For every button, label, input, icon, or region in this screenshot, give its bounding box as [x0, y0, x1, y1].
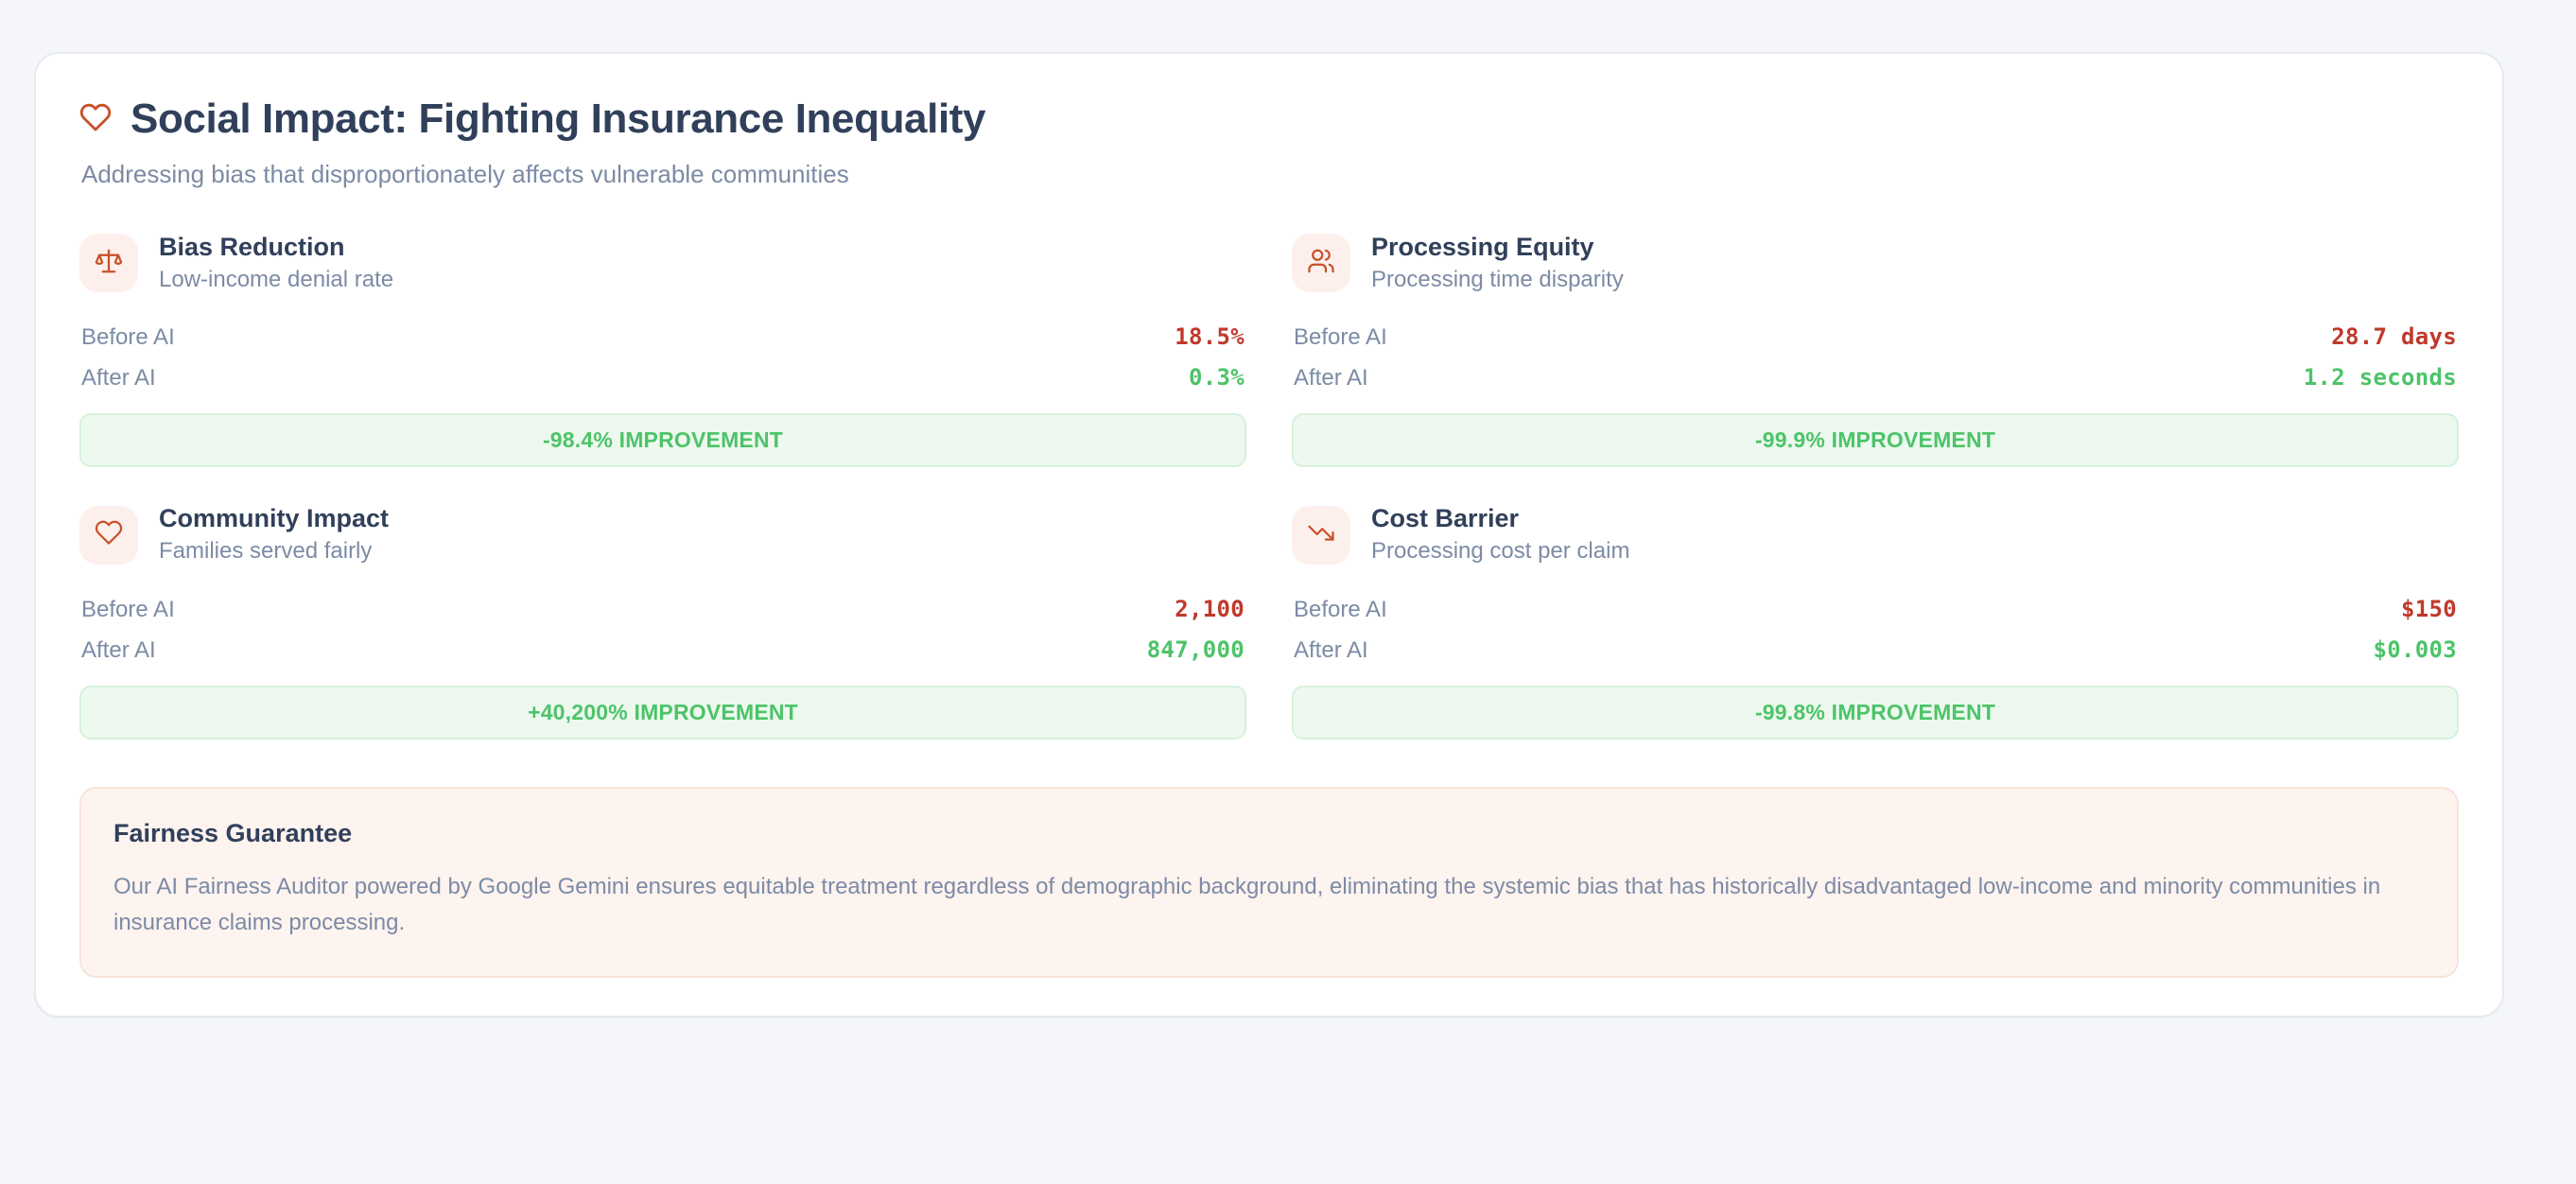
- metric-row-before: Before AI 28.7 days: [1292, 317, 2459, 357]
- page-root: Social Impact: Fighting Insurance Inequa…: [0, 0, 2576, 1184]
- metric-description: Processing cost per claim: [1371, 539, 1629, 564]
- heart-icon: [95, 518, 123, 551]
- after-label: After AI: [81, 637, 156, 664]
- improvement-badge: -99.8% IMPROVEMENT: [1292, 686, 2459, 740]
- metric-icon-container: [1292, 234, 1350, 292]
- metric-row-before: Before AI $150: [1292, 589, 2459, 630]
- before-label: Before AI: [81, 324, 175, 351]
- fairness-guarantee-callout: Fairness Guarantee Our AI Fairness Audit…: [79, 787, 2459, 979]
- metric-row-before: Before AI 18.5%: [79, 317, 1246, 357]
- before-label: Before AI: [1294, 324, 1387, 351]
- metric-description: Low-income denial rate: [159, 268, 393, 292]
- metric-header: Community Impact Families served fairly: [79, 505, 1246, 564]
- metric-card-community-impact: Community Impact Families served fairly …: [79, 505, 1246, 776]
- metric-titles: Bias Reduction Low-income denial rate: [159, 234, 393, 292]
- metric-description: Processing time disparity: [1371, 268, 1624, 292]
- after-value: 847,000: [1147, 636, 1244, 663]
- metric-grid: Bias Reduction Low-income denial rate Be…: [79, 234, 2459, 776]
- metric-titles: Cost Barrier Processing cost per claim: [1371, 505, 1629, 564]
- page-title: Social Impact: Fighting Insurance Inequa…: [131, 96, 985, 144]
- title-row: Social Impact: Fighting Insurance Inequa…: [79, 96, 2459, 144]
- improvement-badge: +40,200% IMPROVEMENT: [79, 686, 1246, 740]
- before-label: Before AI: [1294, 597, 1387, 623]
- metric-row-after: After AI 1.2 seconds: [1292, 357, 2459, 398]
- fairness-guarantee-body: Our AI Fairness Auditor powered by Googl…: [113, 869, 2425, 943]
- metric-rows: Before AI 2,100 After AI 847,000: [79, 589, 1246, 670]
- metric-row-after: After AI 0.3%: [79, 357, 1246, 398]
- metric-name: Cost Barrier: [1371, 505, 1629, 533]
- improvement-badge: -99.9% IMPROVEMENT: [1292, 413, 2459, 467]
- users-group-icon: [1307, 247, 1335, 280]
- heart-icon: [79, 101, 112, 138]
- before-value: 18.5%: [1175, 323, 1244, 350]
- panel-header: Social Impact: Fighting Insurance Inequa…: [79, 96, 2459, 190]
- after-value: 0.3%: [1189, 364, 1244, 391]
- metric-header: Processing Equity Processing time dispar…: [1292, 234, 2459, 292]
- before-value: $150: [2401, 596, 2457, 622]
- metric-description: Families served fairly: [159, 539, 389, 564]
- metric-row-after: After AI $0.003: [1292, 630, 2459, 670]
- fairness-guarantee-title: Fairness Guarantee: [113, 819, 2425, 848]
- before-value: 28.7 days: [2331, 323, 2457, 350]
- metric-header: Bias Reduction Low-income denial rate: [79, 234, 1246, 292]
- metric-card-bias-reduction: Bias Reduction Low-income denial rate Be…: [79, 234, 1246, 505]
- after-label: After AI: [81, 365, 156, 392]
- metric-header: Cost Barrier Processing cost per claim: [1292, 505, 2459, 564]
- metric-card-cost-barrier: Cost Barrier Processing cost per claim B…: [1292, 505, 2459, 776]
- after-value: $0.003: [2374, 636, 2458, 663]
- after-value: 1.2 seconds: [2304, 364, 2457, 391]
- trending-down-icon: [1307, 518, 1335, 551]
- metric-name: Processing Equity: [1371, 234, 1624, 262]
- scales-balance-icon: [95, 247, 123, 280]
- metric-titles: Community Impact Families served fairly: [159, 505, 389, 564]
- before-value: 2,100: [1175, 596, 1244, 622]
- metric-titles: Processing Equity Processing time dispar…: [1371, 234, 1624, 292]
- after-label: After AI: [1294, 637, 1368, 664]
- metric-icon-container: [79, 506, 138, 565]
- metric-row-after: After AI 847,000: [79, 630, 1246, 670]
- page-subtitle: Addressing bias that disproportionately …: [81, 159, 2459, 191]
- metric-name: Community Impact: [159, 505, 389, 533]
- before-label: Before AI: [81, 597, 175, 623]
- metric-row-before: Before AI 2,100: [79, 589, 1246, 630]
- metric-icon-container: [79, 234, 138, 292]
- metric-rows: Before AI $150 After AI $0.003: [1292, 589, 2459, 670]
- after-label: After AI: [1294, 365, 1368, 392]
- metric-rows: Before AI 18.5% After AI 0.3%: [79, 317, 1246, 398]
- metric-name: Bias Reduction: [159, 234, 393, 262]
- metric-card-processing-equity: Processing Equity Processing time dispar…: [1292, 234, 2459, 505]
- metric-icon-container: [1292, 506, 1350, 565]
- social-impact-panel: Social Impact: Fighting Insurance Inequa…: [34, 52, 2504, 1018]
- metric-rows: Before AI 28.7 days After AI 1.2 seconds: [1292, 317, 2459, 398]
- improvement-badge: -98.4% IMPROVEMENT: [79, 413, 1246, 467]
